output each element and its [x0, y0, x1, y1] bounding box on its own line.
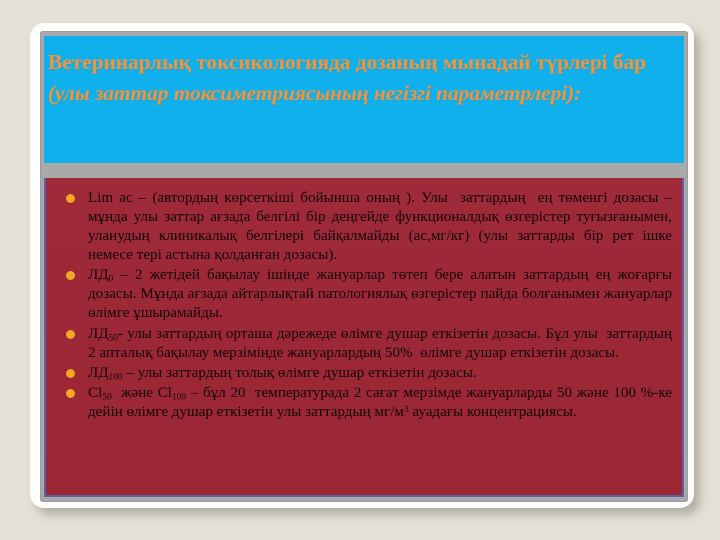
content-box: Lim ас – (автордың көрсеткіші бойынша он… [44, 178, 684, 497]
page-title: Ветеринарлық токсикологияда дозаның мына… [48, 47, 672, 108]
bullet-list: Lim ас – (автордың көрсеткіші бойынша он… [54, 189, 672, 422]
bullet-text-ld50: ЛД50- улы заттардың орташа дәрежеде өлім… [88, 325, 672, 363]
list-item: Cl50 және Cl100 – бұл 20 температурада 2… [54, 384, 672, 422]
term-ld0: ЛД0 [88, 267, 113, 283]
bullet-dot-icon [66, 194, 75, 203]
bullet-text-cl50-cl100: Cl50 және Cl100 – бұл 20 температурада 2… [88, 384, 672, 422]
title-line-2-plain: бар [613, 50, 646, 74]
bullet-dot-icon [66, 271, 75, 280]
bullet-dot-icon [66, 330, 75, 339]
bullet-text-lim-ac: Lim ас – (автордың көрсеткіші бойынша он… [88, 189, 672, 265]
list-item: ЛД0 – 2 жетідей бақылау ішінде жануарлар… [54, 266, 672, 323]
term-lim-ac: Lim ас [88, 190, 133, 206]
slide: Ветеринарлық токсикологияда дозаның мына… [0, 0, 720, 540]
bullet-dot-icon [66, 369, 75, 378]
list-item: ЛД50- улы заттардың орташа дәрежеде өлім… [54, 325, 672, 363]
title-line-3-italic: параметрлері): [436, 81, 581, 105]
title-line-1: Ветеринарлық токсикологияда дозаның мына… [48, 50, 608, 74]
title-box: Ветеринарлық токсикологияда дозаның мына… [44, 36, 684, 163]
term-ld100: ЛД100 [88, 365, 123, 381]
term-ld50: ЛД50 [88, 326, 118, 342]
bullet-text-ld100: ЛД100 – улы заттардың толық өлімге душар… [88, 364, 672, 383]
title-line-2-italic: (улы заттар токсиметриясының негізгі [48, 81, 431, 105]
term-cl50-cl100: Cl50 және Cl100 [88, 385, 186, 401]
list-item: ЛД100 – улы заттардың толық өлімге душар… [54, 364, 672, 383]
list-item: Lim ас – (автордың көрсеткіші бойынша он… [54, 189, 672, 265]
bullet-dot-icon [66, 389, 75, 398]
bullet-text-ld0: ЛД0 – 2 жетідей бақылау ішінде жануарлар… [88, 266, 672, 323]
